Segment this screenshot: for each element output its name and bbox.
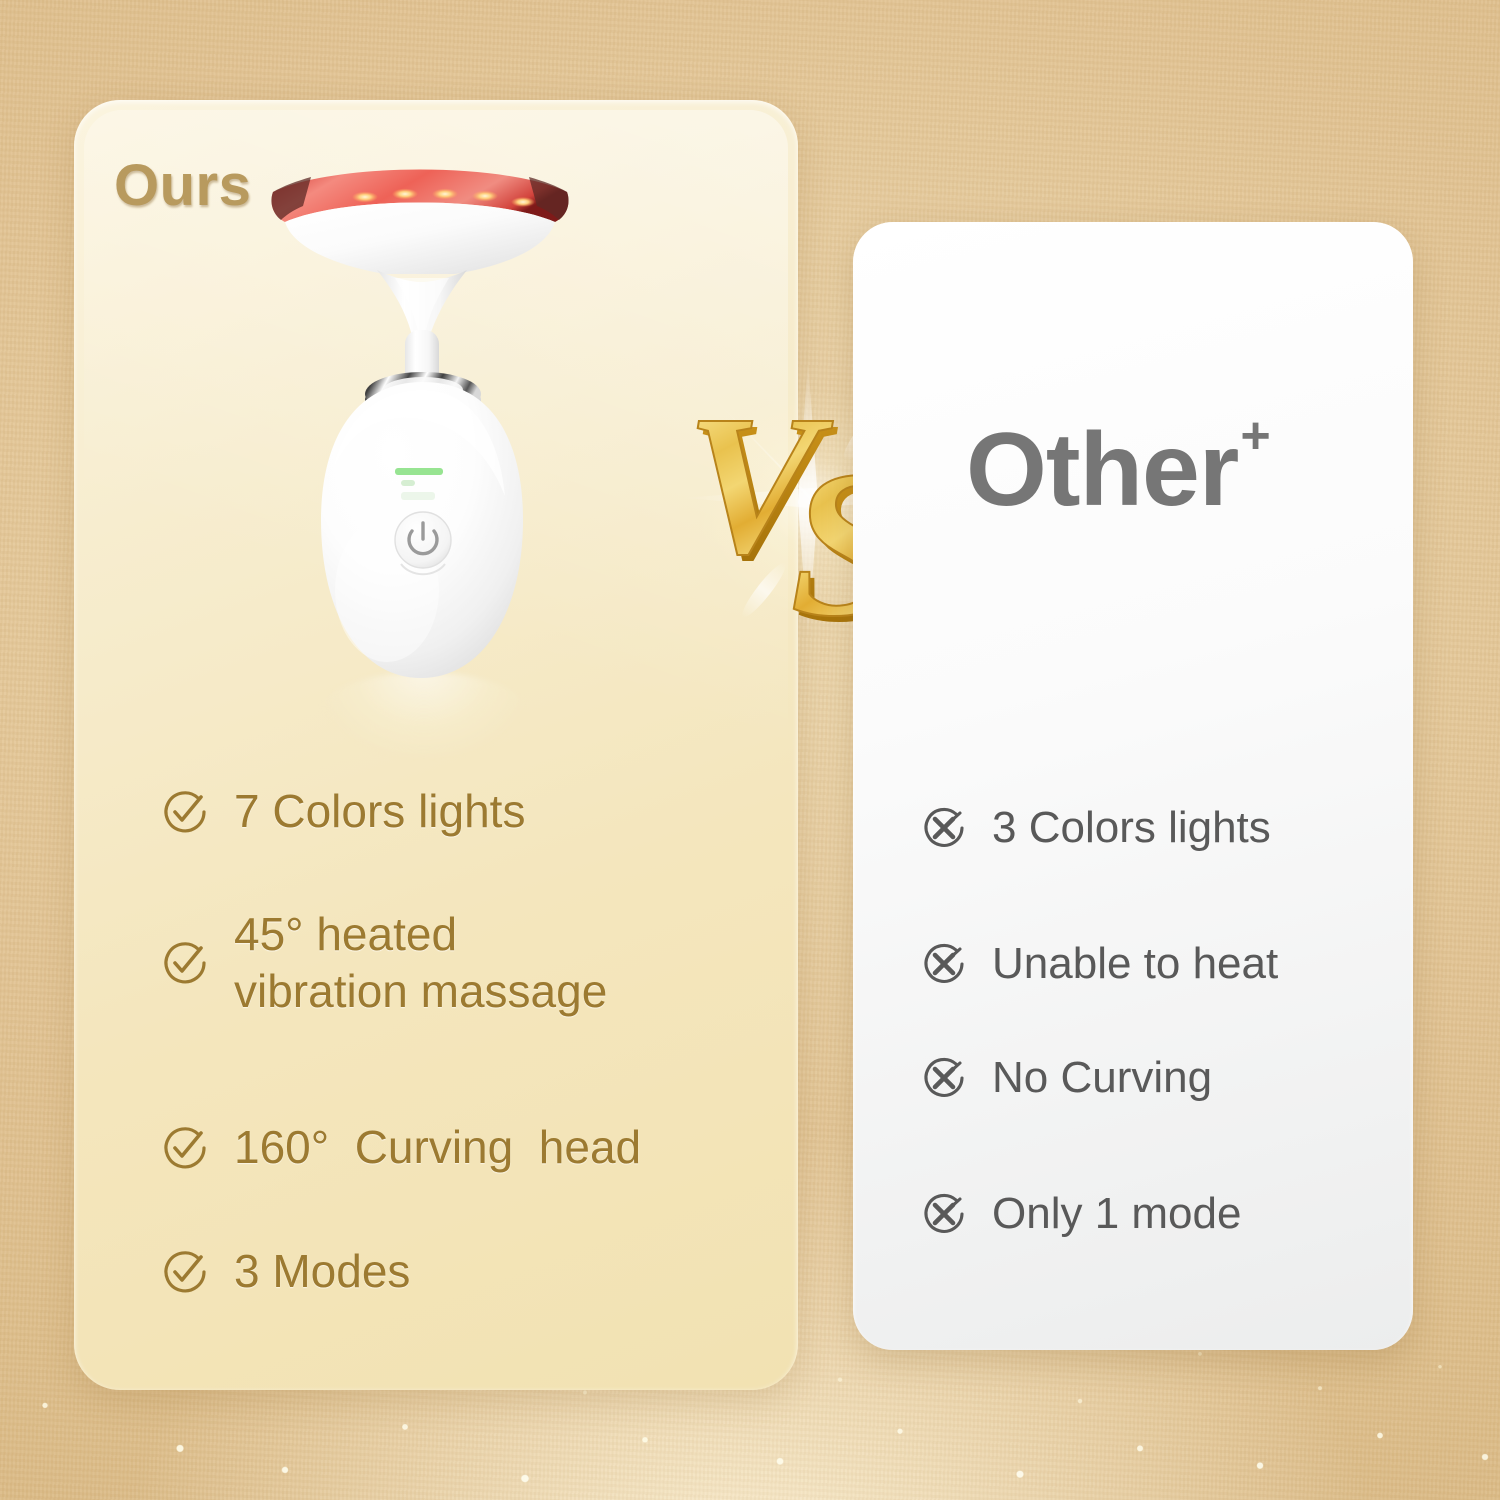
- other-label-superscript: +: [1240, 407, 1269, 465]
- ours-feature-label: 7 Colors lights: [234, 783, 525, 840]
- other-feature-label: 3 Colors lights: [992, 802, 1271, 855]
- other-label: Other+: [966, 418, 1268, 522]
- other-panel: [853, 222, 1413, 1350]
- comparison-infographic: Ours: [0, 0, 1500, 1500]
- ours-feature-row: 160° Curving head: [160, 1118, 641, 1178]
- ours-label: Ours: [114, 152, 251, 219]
- cross-circle-icon: [920, 940, 992, 988]
- ours-feature-label: 3 Modes: [234, 1243, 410, 1300]
- other-feature-label: No Curving: [992, 1052, 1212, 1105]
- cross-circle-icon: [920, 1054, 992, 1102]
- other-feature-row: No Curving: [920, 1050, 1212, 1106]
- cross-circle-icon: [920, 1190, 992, 1238]
- ours-feature-row: 3 Modes: [160, 1242, 410, 1302]
- check-circle-icon: [160, 1123, 234, 1173]
- ours-feature-row: 7 Colors lights: [160, 782, 525, 842]
- check-circle-icon: [160, 787, 234, 837]
- ours-feature-label: 160° Curving head: [234, 1119, 641, 1176]
- other-feature-row: 3 Colors lights: [920, 800, 1271, 856]
- other-label-text: Other: [966, 412, 1238, 528]
- check-circle-icon: [160, 1247, 234, 1297]
- other-feature-row: Only 1 mode: [920, 1186, 1241, 1242]
- check-circle-icon: [160, 938, 234, 988]
- other-feature-label: Only 1 mode: [992, 1188, 1241, 1241]
- ours-feature-row: 45° heated vibration massage: [160, 906, 607, 1020]
- other-feature-label: Unable to heat: [992, 938, 1278, 991]
- product-image: [255, 150, 585, 710]
- other-feature-row: Unable to heat: [920, 936, 1278, 992]
- ours-feature-label: 45° heated vibration massage: [234, 906, 607, 1020]
- cross-circle-icon: [920, 804, 992, 852]
